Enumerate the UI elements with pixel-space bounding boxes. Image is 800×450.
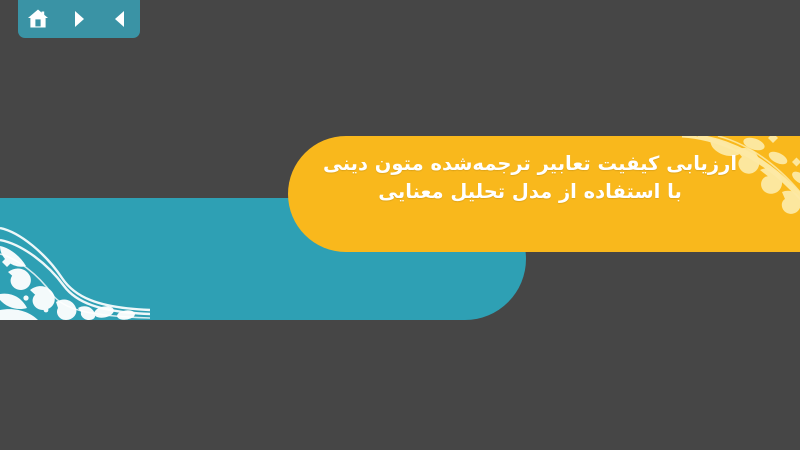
navigation-bar xyxy=(18,0,140,38)
slide-title: ارزیابی کیفیت تعابیر ترجمه‌شده متون دینی… xyxy=(300,150,760,205)
title-line-2: با استفاده از مدل تحلیل معنایی xyxy=(300,178,760,206)
slide-canvas: ارزیابی کیفیت تعابیر ترجمه‌شده متون دینی… xyxy=(0,0,800,450)
triangle-left-icon xyxy=(109,8,131,30)
home-button[interactable] xyxy=(23,4,53,34)
title-line-1: ارزیابی کیفیت تعابیر ترجمه‌شده متون دینی xyxy=(300,150,760,178)
back-button[interactable] xyxy=(105,4,135,34)
home-icon xyxy=(26,7,50,31)
teal-arabesque-ornament xyxy=(0,198,150,320)
triangle-right-icon xyxy=(68,8,90,30)
forward-button[interactable] xyxy=(64,4,94,34)
